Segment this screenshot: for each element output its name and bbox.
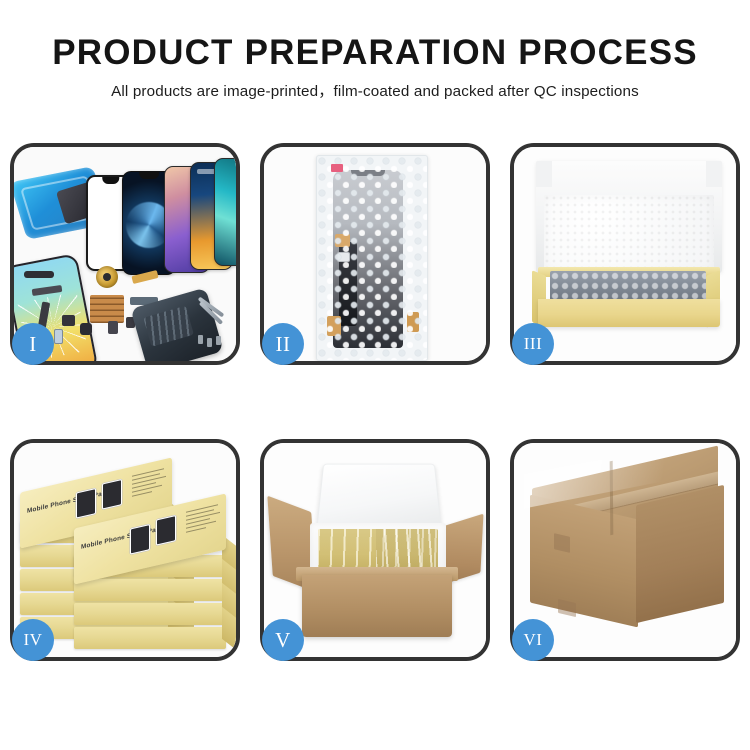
step-badge-1: I [12,323,54,365]
step-panel-2: II [260,143,490,365]
speaker-mesh-part-graphic [24,271,54,278]
step-panel-5: V [260,439,490,661]
foam-lid-graphic [316,464,441,528]
step-panel-1: I [10,143,240,365]
sim-tray-part-graphic [54,329,63,344]
step-panel-3: III [510,143,740,365]
step-badge-5: V [262,619,304,661]
carton-body-graphic [302,575,452,637]
page-title: PRODUCT PREPARATION PROCESS [0,33,750,73]
step-badge-3: III [512,323,554,365]
retail-box-edge [74,579,226,601]
carton-seam-graphic [610,461,614,536]
white-foam-sheet-graphic [544,195,714,271]
bubble-wrap-bag-graphic [316,155,428,361]
small-component-graphic [108,321,118,334]
step-badge-2: II [262,323,304,365]
small-component-graphic [62,315,75,326]
tweezers-tool-graphic [192,299,234,339]
yellow-box-front-graphic [538,299,720,327]
page-subtitle: All products are image-printed，film-coat… [0,82,750,102]
retail-box-edge [74,627,226,649]
step-badge-6: VI [512,619,554,661]
step-panel-6: VI [510,439,740,661]
product-preparation-infographic: PRODUCT PREPARATION PROCESS All products… [0,0,750,750]
pink-qc-label-graphic [331,164,343,172]
grid-board-part-graphic [90,295,124,323]
copper-coil-part-graphic [96,266,118,288]
retail-box-label: Mobile Phone Spare Parts [81,525,165,551]
step-panel-4: Mobile Phone Spare Parts Mobile Phone Sp… [10,439,240,661]
teal-wallpaper-screen-graphic [214,158,236,266]
retail-box-edge [74,603,226,625]
bubble-texture-graphic [317,156,427,360]
header: PRODUCT PREPARATION PROCESS All products… [0,0,750,102]
carton-tab-graphic [554,533,570,553]
carton-right-face-graphic [636,485,724,623]
retail-box-label: Mobile Phone Spare Parts [27,489,111,515]
small-component-graphic [80,323,92,335]
step-badge-4: IV [12,619,54,661]
process-steps-grid: I II [10,143,740,661]
screws-graphic [198,335,224,349]
